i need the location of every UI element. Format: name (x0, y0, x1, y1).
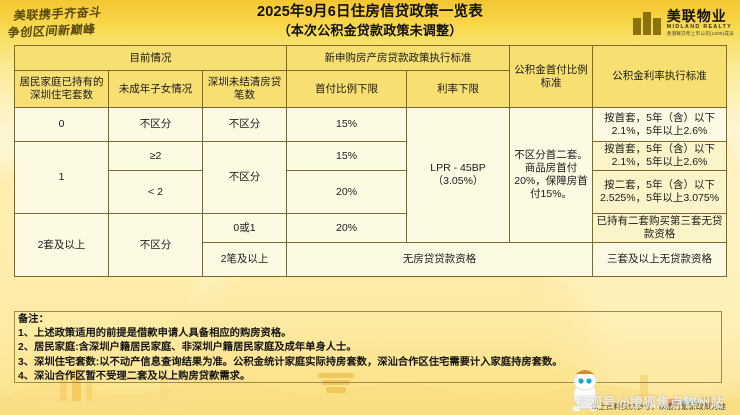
header-unsettled-loans: 深圳未结清房贷笔数 (203, 71, 287, 108)
note-item-1: 1、上述政策适用的前提是借款申请人具备相应的购房资格。 (18, 327, 718, 341)
cell-downpayment-2: 20% (287, 171, 407, 214)
watermark: 搜狐号@搜狐焦点钦州站 (576, 392, 724, 411)
rate-min-line-2: （3.05%） (409, 175, 507, 188)
cell-fund-rate-3: 已持有二套购买第三套无贷款资格 (593, 214, 727, 243)
cell-rate-min: LPR - 45BP （3.05%） (407, 108, 510, 243)
title-secondary: （本次公积金贷款政策未调整） (150, 22, 590, 40)
cell-fund-rate-0: 按首套，5年（含）以下2.1%，5年以上2.6% (593, 108, 727, 142)
note-item-3: 3、深圳住宅套数:以不动产信息查询结果为准。公积金统计家庭实际持房套数，深汕合作… (18, 356, 718, 370)
rate-min-line-1: LPR - 45BP (409, 162, 507, 175)
policy-table-page: 美联携手齐奋斗 争创区间新巅峰 2025年9月6日住房信贷政策一览表 （本次公积… (0, 0, 740, 415)
note-item-2: 2、居民家庭:含深圳户籍居民家庭、非深圳户籍居民家庭及成年单身人士。 (18, 341, 718, 355)
note-item-4: 4、深汕合作区暂不受理二套及以上购房贷款需求。 (18, 370, 718, 384)
cell-fund-rate-1: 按首套，5年（含）以下2.1%，5年以上2.6% (593, 142, 727, 171)
cell-minor-children-3: 不区分 (109, 214, 203, 277)
cell-unsettled-loans-3: 0或1 (203, 214, 287, 243)
title-primary: 2025年9月6日住房信贷政策一览表 (150, 3, 590, 22)
table-group-header-row: 目前情况 新申购房产房贷款政策执行标准 公积金首付比例标准 公积金利率执行标准 (15, 46, 727, 71)
page-header: 美联携手齐奋斗 争创区间新巅峰 2025年9月6日住房信贷政策一览表 （本次公积… (0, 0, 740, 42)
brand-logo: 美联物业 MIDLAND REALTY 香港联交所上市公司(1200)成员 (633, 6, 734, 40)
policy-table: 目前情况 新申购房产房贷款政策执行标准 公积金首付比例标准 公积金利率执行标准 … (14, 45, 727, 277)
table-row: 1 ≥2 不区分 15% 按首套，5年（含）以下2.1%，5年以上2.6% (15, 142, 727, 171)
page-title: 2025年9月6日住房信贷政策一览表 （本次公积金贷款政策未调整） (150, 3, 590, 40)
header-new-purchase-standard: 新申购房产房贷款政策执行标准 (287, 46, 510, 71)
midland-logo-icon (633, 11, 663, 35)
header-fund-downpayment: 公积金首付比例标准 (510, 46, 593, 108)
cell-owned-units-3: 2套及以上 (15, 214, 109, 277)
cell-no-loan-qualification: 无房贷贷款资格 (287, 243, 593, 277)
header-rate-min: 利率下限 (407, 71, 510, 108)
cell-minor-children-1: ≥2 (109, 142, 203, 171)
cell-minor-children-0: 不区分 (109, 108, 203, 142)
cell-owned-units-1: 1 (15, 142, 109, 214)
cell-downpayment-1: 15% (287, 142, 407, 171)
cell-owned-units-0: 0 (15, 108, 109, 142)
header-minor-children: 未成年子女情况 (109, 71, 203, 108)
calligraphy-line-2: 争创区间新巅峰 (7, 20, 97, 41)
notes-label: 备注： (18, 313, 718, 327)
header-owned-units: 居民家庭已持有的深圳住宅套数 (15, 71, 109, 108)
cell-fund-downpayment: 不区分首二套。商品房首付20%，保障房首付15%。 (510, 108, 593, 243)
cell-minor-children-2: < 2 (109, 171, 203, 214)
cell-downpayment-0: 15% (287, 108, 407, 142)
header-current-situation: 目前情况 (15, 46, 287, 71)
brand-name-en: MIDLAND REALTY (667, 25, 734, 30)
cell-fund-rate-4: 三套及以上无贷款资格 (593, 243, 727, 277)
brand-subtitle: 香港联交所上市公司(1200)成员 (667, 32, 734, 37)
cell-downpayment-3: 20% (287, 214, 407, 243)
notes-box: 备注： 1、上述政策适用的前提是借款申请人具备相应的购房资格。 2、居民家庭:含… (14, 311, 722, 383)
cell-unsettled-loans-0: 不区分 (203, 108, 287, 142)
table-row: < 2 20% 按二套，5年（含）以下2.525%，5年以上3.075% (15, 171, 727, 214)
table-row: 2套及以上 不区分 0或1 20% 已持有二套购买第三套无贷款资格 (15, 214, 727, 243)
header-downpayment-min: 首付比例下限 (287, 71, 407, 108)
brand-text: 美联物业 MIDLAND REALTY 香港联交所上市公司(1200)成员 (667, 9, 734, 37)
table-row: 0 不区分 不区分 15% LPR - 45BP （3.05%） 不区分首二套。… (15, 108, 727, 142)
header-fund-rate: 公积金利率执行标准 (593, 46, 727, 108)
cell-unsettled-loans-4: 2笔及以上 (203, 243, 287, 277)
cell-fund-rate-2: 按二套，5年（含）以下2.525%，5年以上3.075% (593, 171, 727, 214)
cell-unsettled-loans-1: 不区分 (203, 142, 287, 214)
calligraphy-slogan: 美联携手齐奋斗 争创区间新巅峰 (6, 2, 136, 44)
brand-name-cn: 美联物业 (667, 9, 734, 23)
